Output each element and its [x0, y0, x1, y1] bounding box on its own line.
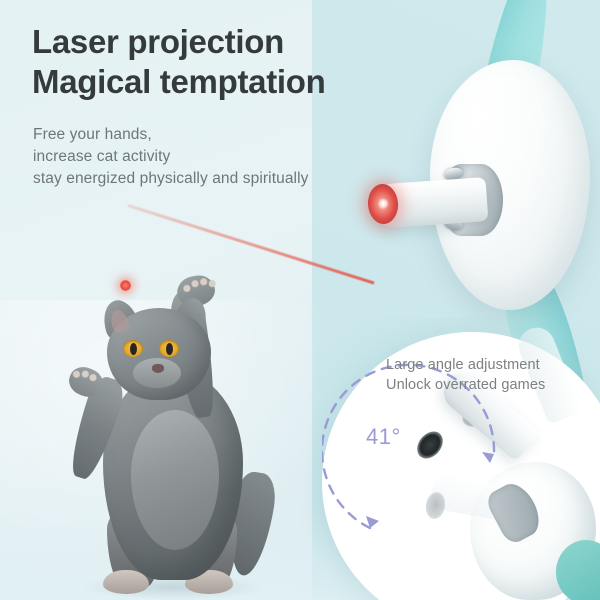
headline-line-2: Magical temptation — [32, 62, 422, 102]
product-poster: Laser projection Magical temptation Free… — [0, 0, 600, 600]
cat-muzzle — [133, 358, 181, 388]
subtitle-text: Free your hands, increase cat activity s… — [33, 124, 393, 190]
page-title: Laser projection Magical temptation — [32, 22, 422, 102]
callout-line-1: Large angle adjustment — [386, 355, 586, 375]
callout-text: Large angle adjustment Unlock overrated … — [386, 355, 586, 395]
angle-label: 41° — [366, 424, 401, 450]
laser-lens-highlight — [378, 198, 389, 209]
subhead-line-2: increase cat activity — [33, 146, 393, 168]
rotation-arrow-top — [482, 452, 494, 463]
cat-illustration — [55, 282, 295, 600]
cat-pupil-right — [166, 343, 173, 355]
subhead-line-1: Free your hands, — [33, 124, 393, 146]
cat-pupil-left — [130, 343, 137, 355]
headline-line-1: Laser projection — [32, 22, 422, 62]
subhead-line-3: stay energized physically and spirituall… — [33, 168, 393, 190]
cat-nose — [152, 364, 164, 373]
callout-line-2: Unlock overrated games — [386, 375, 586, 395]
